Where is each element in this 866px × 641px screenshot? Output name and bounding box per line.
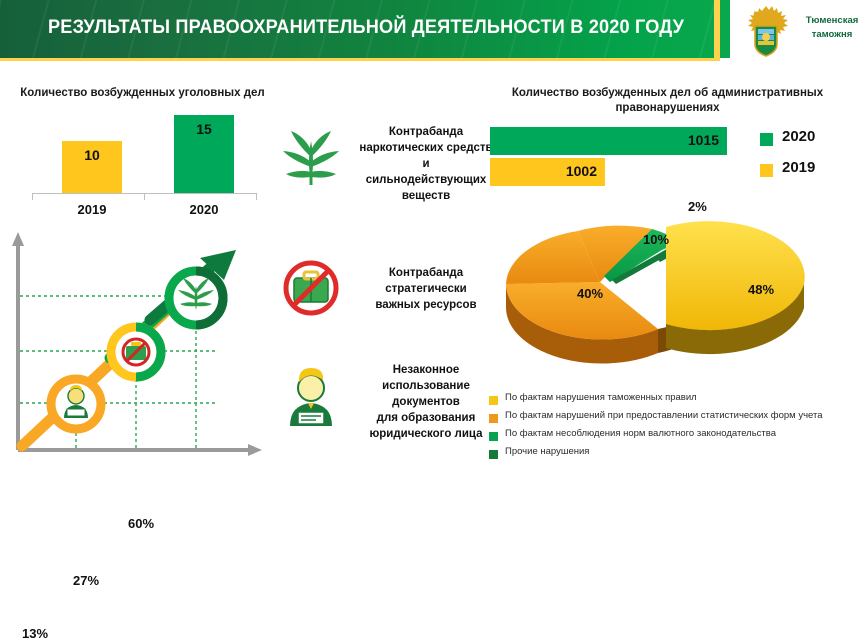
bar-2019: 10: [62, 141, 122, 193]
category-text-line: Контрабанда: [356, 265, 496, 281]
category-text-line: стратегически: [356, 281, 496, 297]
organization-name-line1: Тюменская: [800, 14, 864, 28]
bar-value-2019: 10: [62, 147, 122, 163]
category-text-line: юридического лица: [356, 426, 496, 442]
pie-label-10: 10%: [643, 232, 669, 247]
category-text-line: Контрабанда: [356, 124, 496, 140]
pie-legend-swatch-green: [489, 432, 498, 441]
cannabis-leaf-icon: [272, 117, 350, 195]
pie-legend-item-statistical-forms: По фактам нарушений при предоставлении с…: [489, 410, 864, 428]
pie-legend-label-2: По фактам нарушений при предоставлении с…: [505, 410, 823, 421]
category-text-line: документов: [356, 394, 496, 410]
bar-2020: 15: [174, 115, 234, 193]
legend-label-2020: 2020: [782, 128, 815, 145]
hbar-value-2020: 1015: [688, 132, 719, 148]
growth-steps-chart: 13% 27% 60%: [0, 228, 270, 466]
violations-pie-chart: 48% 40% 10% 2%: [500, 196, 810, 371]
russian-customs-emblem-icon: [735, 4, 797, 58]
category-label-documents: Незаконное использование документов для …: [356, 362, 496, 442]
hbar-value-2019: 1002: [566, 163, 597, 179]
pie-legend-label-1: По фактам нарушения таможенных правил: [505, 392, 697, 403]
category-label-drugs: Контрабанда наркотических средств и силь…: [356, 124, 496, 204]
legend-item-2020: 2020: [760, 128, 860, 159]
category-label-resources: Контрабанда стратегически важных ресурсо…: [356, 265, 496, 313]
pie-legend-item-other: Прочие нарушения: [489, 446, 864, 464]
admin-chart-title: Количество возбужденных дел об администр…: [495, 86, 840, 116]
criminal-chart-title: Количество возбужденных уголовных дел: [10, 86, 275, 101]
category-text-line: для образования: [356, 410, 496, 426]
prohibited-suitcase-icon: [272, 248, 350, 326]
page-header: РЕЗУЛЬТАТЫ ПРАВООХРАНИТЕЛЬНОЙ ДЕЯТЕЛЬНОС…: [0, 0, 866, 60]
pie-legend-swatch-dark-green: [489, 450, 498, 459]
criminal-cases-bar-chart: 10 15 2019 2020: [14, 110, 264, 215]
growth-label-60: 60%: [128, 516, 154, 531]
hbar-2019: 1002: [490, 158, 605, 186]
x-axis-tick: [256, 193, 257, 200]
legend-swatch-green: [760, 133, 773, 146]
category-text-line: наркотических средств и: [356, 140, 496, 172]
x-label-2020: 2020: [174, 202, 234, 217]
hbar-2020: 1015: [490, 127, 727, 155]
pie-legend-item-customs-rules: По фактам нарушения таможенных правил: [489, 392, 864, 410]
legend-item-2019: 2019: [760, 159, 860, 190]
category-text-line: веществ: [356, 188, 496, 204]
pie-legend-label-3: По фактам несоблюдения норм валютного за…: [505, 428, 776, 439]
pie-legend-swatch-yellow: [489, 396, 498, 405]
pie-chart-legend: По фактам нарушения таможенных правил По…: [489, 392, 864, 464]
pie-legend-label-4: Прочие нарушения: [505, 446, 589, 457]
growth-label-27: 27%: [73, 573, 99, 588]
header-yellow-underline: [0, 58, 720, 61]
header-yellow-divider: [714, 0, 720, 60]
category-text-line: сильнодействующих: [356, 172, 496, 188]
bar-value-2020: 15: [174, 121, 234, 137]
pie-legend-item-currency-law: По фактам несоблюдения норм валютного за…: [489, 428, 864, 446]
growth-label-13: 13%: [22, 626, 48, 641]
pie-legend-swatch-orange: [489, 414, 498, 423]
page-title: РЕЗУЛЬТАТЫ ПРАВООХРАНИТЕЛЬНОЙ ДЕЯТЕЛЬНОС…: [48, 16, 653, 39]
organization-name: Тюменская таможня: [800, 14, 864, 42]
pie-label-2: 2%: [688, 199, 707, 214]
x-axis-tick: [32, 193, 33, 200]
x-axis-tick: [144, 193, 145, 200]
admin-chart-legend: 2020 2019: [760, 128, 860, 190]
category-text-line: использование: [356, 378, 496, 394]
organization-name-line2: таможня: [800, 28, 864, 42]
legend-swatch-yellow: [760, 164, 773, 177]
pie-label-40: 40%: [577, 286, 603, 301]
person-document-icon: [272, 362, 350, 440]
pie-label-48: 48%: [748, 282, 774, 297]
category-text-line: Незаконное: [356, 362, 496, 378]
legend-label-2019: 2019: [782, 159, 815, 176]
x-label-2019: 2019: [62, 202, 122, 217]
category-text-line: важных ресурсов: [356, 297, 496, 313]
